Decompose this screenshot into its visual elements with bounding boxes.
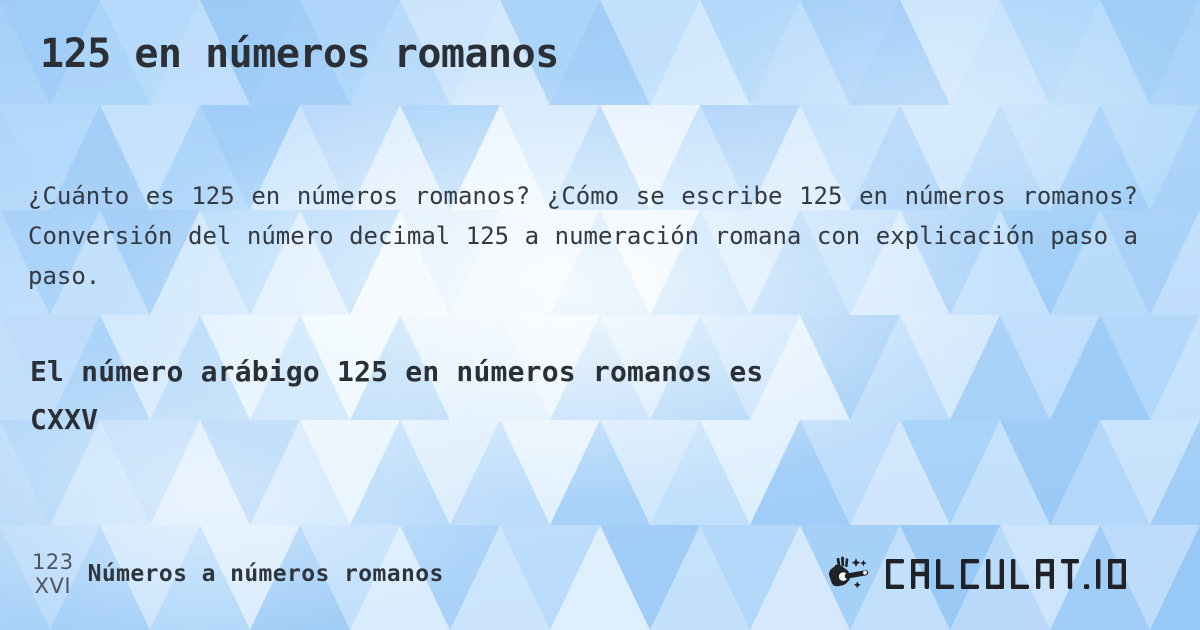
numeral-icon-roman: XVI <box>35 574 71 597</box>
footer: 123 XVI Números a números romanos <box>0 546 1200 602</box>
calculatio-wordmark <box>884 556 1166 592</box>
intro-line-1: ¿Cuánto es 125 en números romanos? ¿Cómo… <box>28 182 888 210</box>
numeral-converter-icon: 123 XVI <box>32 552 74 597</box>
numeral-icon-arabic: 123 <box>32 552 74 574</box>
answer-lead: El número arábigo 125 en números romanos… <box>30 355 763 388</box>
calculatio-logo[interactable] <box>827 554 1166 594</box>
footer-brand: 123 XVI Números a números romanos <box>32 552 444 597</box>
answer-statement: El número arábigo 125 en números romanos… <box>30 348 1130 444</box>
page-title: 125 en números romanos <box>40 29 1160 79</box>
intro-paragraph: ¿Cuánto es 125 en números romanos? ¿Cómo… <box>28 176 1138 296</box>
share-card: 125 en números romanos ¿Cuánto es 125 en… <box>0 0 1200 630</box>
answer-roman-value: CXXV <box>30 396 1130 444</box>
hand-magic-wand-icon <box>827 554 875 594</box>
footer-label: Números a números romanos <box>88 561 444 587</box>
